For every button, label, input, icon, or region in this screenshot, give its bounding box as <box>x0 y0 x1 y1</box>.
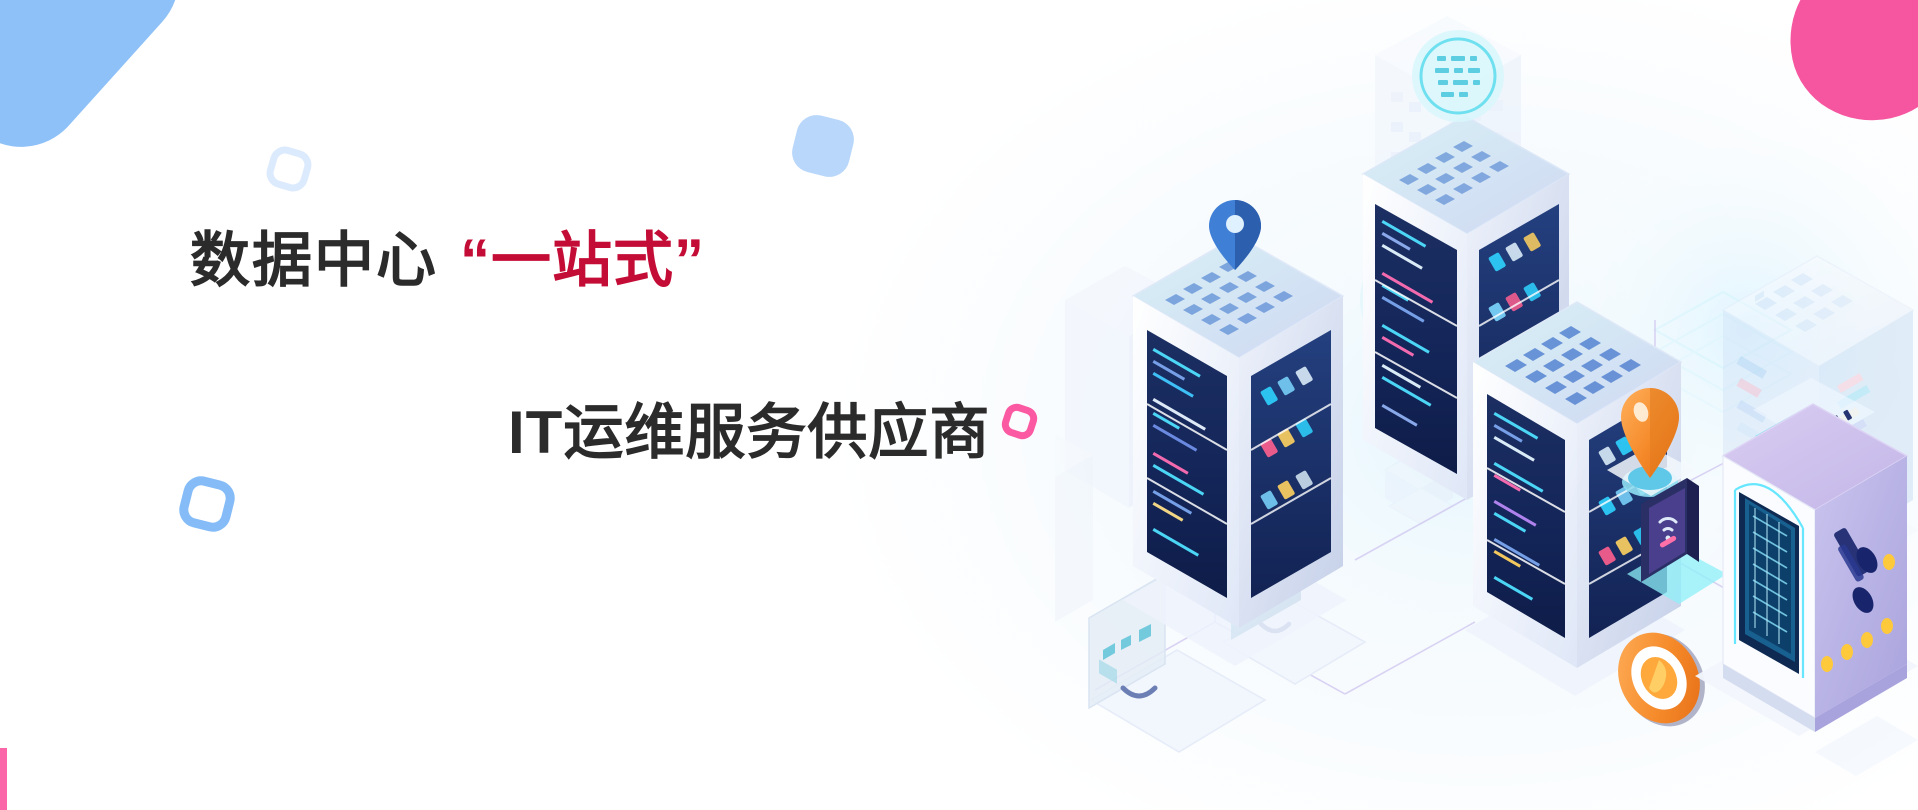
headline-line-1: 数据中心“一站式” <box>190 228 1090 294</box>
blue-ring-large-decoration <box>175 472 238 535</box>
isometric-data-center-illustration <box>1055 0 1918 810</box>
headline-accent-text: “一站式” <box>460 227 705 294</box>
hero-banner: 数据中心“一站式” IT运维服务供应商 <box>0 0 1918 810</box>
blob-top-left-decoration <box>0 0 205 173</box>
headline-block: 数据中心“一站式” IT运维服务供应商 <box>190 228 1090 466</box>
solid-blue-square-decoration <box>788 111 858 181</box>
illustration-svg <box>1055 0 1918 810</box>
server-rack-front-left <box>1123 236 1347 666</box>
blue-ring-small-decoration <box>263 143 315 195</box>
pink-bar-bottom-left-decoration <box>0 748 7 810</box>
data-badge-cyan <box>1412 30 1504 122</box>
headline-main-text: 数据中心 <box>190 227 438 294</box>
headline-line-2: IT运维服务供应商 <box>508 400 1090 466</box>
platform-bottom-right <box>1815 716 1918 776</box>
